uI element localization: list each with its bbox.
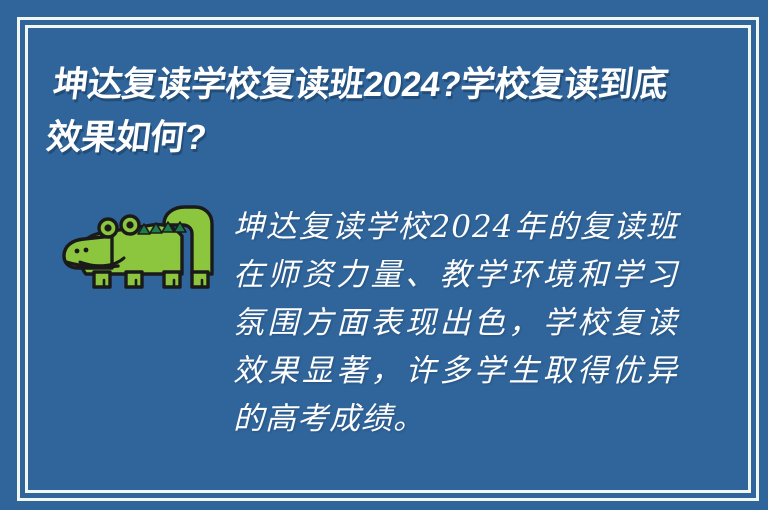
poster-canvas: 坤达复读学校复读班2024?学校复读到底效果如何? [0, 0, 768, 510]
crocodile-illustration [52, 192, 220, 292]
body-paragraph: 坤达复读学校2024年的复读班在师资力量、教学环境和学习氛围方面表现出色，学校复… [233, 203, 678, 443]
page-title: 坤达复读学校复读班2024?学校复读到底效果如何? [43, 58, 696, 164]
crocodile-icon [52, 192, 220, 292]
